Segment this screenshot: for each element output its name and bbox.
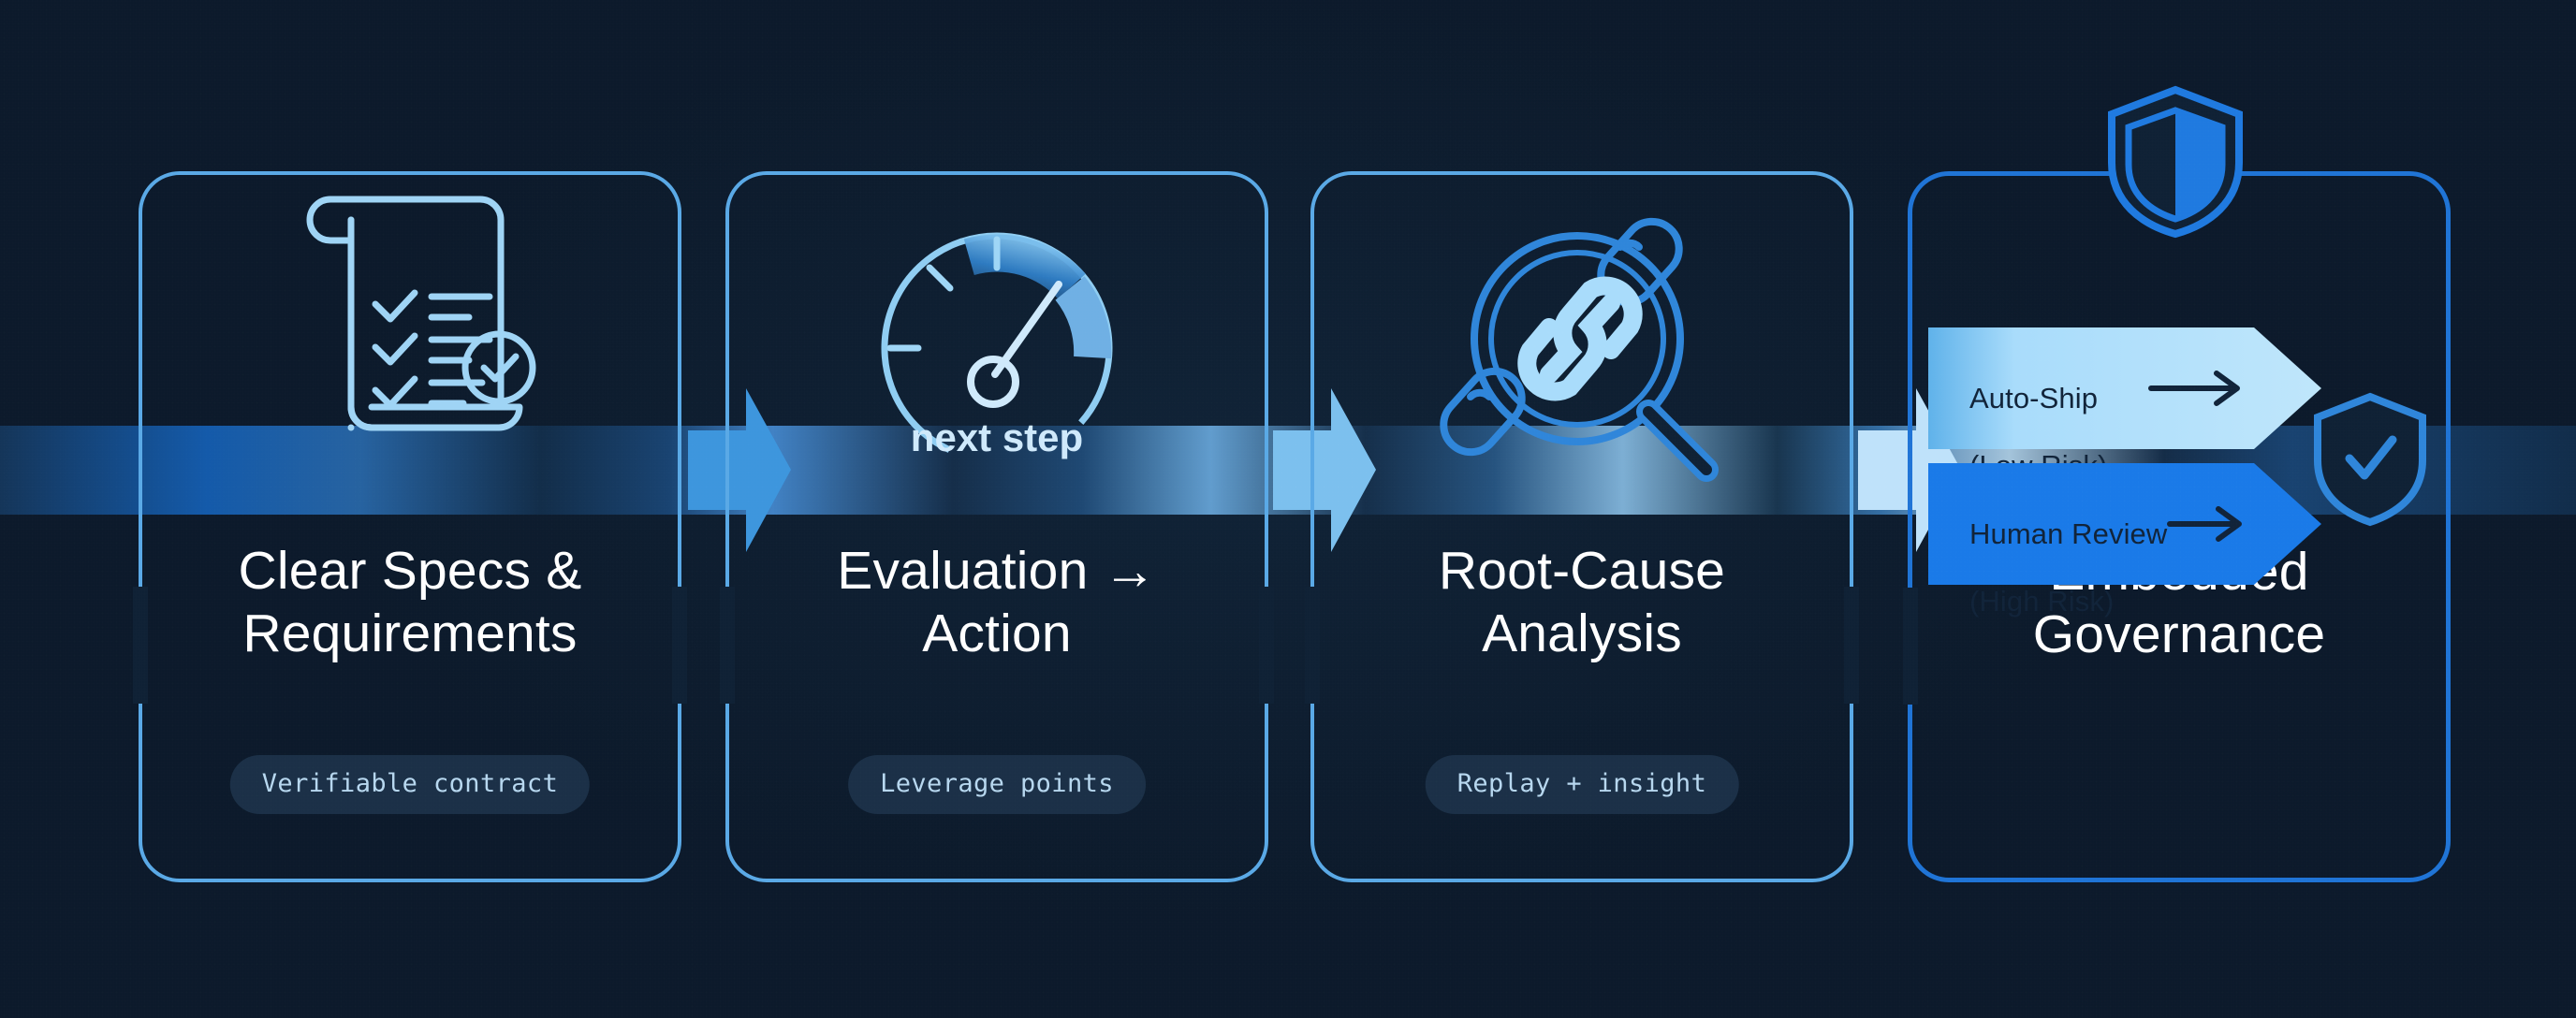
diagram-canvas: Clear Specs & Requirements Verifiable co…	[0, 0, 2576, 1018]
human-review-label-line2: (High Risk)	[1969, 585, 2167, 618]
human-review-branch[interactable]: Human Review (High Risk)	[1928, 463, 2321, 589]
card-1-chip: Verifiable contract	[230, 755, 590, 814]
card-2-title: Evaluation → Action	[729, 540, 1265, 666]
scroll-checklist-icon	[274, 164, 546, 468]
shield-check-icon	[2310, 391, 2430, 532]
card-3-title: Root-Cause Analysis	[1314, 540, 1850, 666]
shield-half-filled-icon	[2104, 82, 2247, 244]
human-review-label: Human Review (High Risk)	[1969, 484, 2167, 652]
auto-ship-label-line1: Auto-Ship	[1969, 382, 2107, 415]
flow-card-2[interactable]: next step Evaluation → Action Leverage p…	[725, 171, 1268, 882]
card-2-title-line1: Evaluation →	[729, 540, 1265, 603]
gauge-next-step-icon: next step	[856, 217, 1137, 474]
card-3-title-line2: Analysis	[1314, 603, 1850, 665]
flow-card-1[interactable]: Clear Specs & Requirements Verifiable co…	[139, 171, 681, 882]
card-1-title-line1: Clear Specs &	[142, 540, 678, 603]
gauge-next-step-label: next step	[911, 415, 1083, 459]
card-2-title-line2: Action	[729, 603, 1265, 665]
card-1-title: Clear Specs & Requirements	[142, 540, 678, 666]
card-1-title-line2: Requirements	[142, 603, 678, 665]
magnifier-chain-link-icon	[1437, 198, 1727, 493]
human-review-label-line1: Human Review	[1969, 517, 2167, 551]
card-2-chip: Leverage points	[848, 755, 1146, 814]
card-3-chip: Replay + insight	[1426, 755, 1739, 814]
auto-ship-branch[interactable]: Auto-Ship (Low Risk)	[1928, 327, 2321, 454]
flow-card-3[interactable]: Root-Cause Analysis Replay + insight	[1310, 171, 1853, 882]
card-3-title-line1: Root-Cause	[1314, 540, 1850, 603]
